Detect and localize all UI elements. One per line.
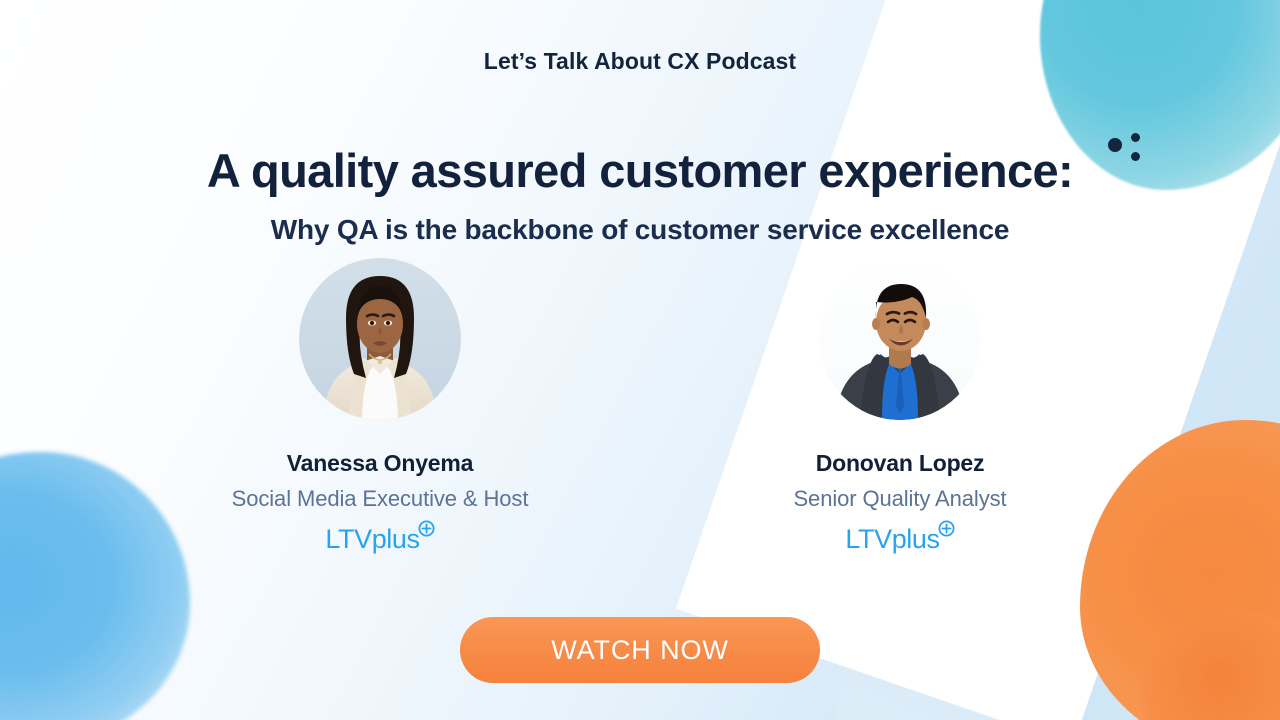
podcast-series-label: Let’s Talk About CX Podcast bbox=[0, 48, 1280, 75]
speaker-role: Social Media Executive & Host bbox=[232, 486, 529, 512]
watch-now-button[interactable]: WATCH NOW bbox=[460, 617, 820, 683]
circled-plus-icon bbox=[418, 520, 435, 537]
avatar bbox=[299, 258, 461, 420]
ltvplus-logo: LTVplus bbox=[845, 526, 954, 553]
ltvplus-logo: LTVplus bbox=[325, 526, 434, 553]
ltvplus-logo-wordmark: LTVplus bbox=[325, 526, 419, 553]
page-subtitle: Why QA is the backbone of customer servi… bbox=[0, 214, 1280, 246]
promo-banner: Let’s Talk About CX Podcast A quality as… bbox=[0, 0, 1280, 720]
circled-plus-icon bbox=[938, 520, 955, 537]
avatar bbox=[819, 258, 981, 420]
page-title: A quality assured customer experience: bbox=[0, 143, 1280, 198]
speaker-card: Donovan Lopez Senior Quality Analyst LTV… bbox=[722, 258, 1078, 553]
speaker-name: Donovan Lopez bbox=[816, 450, 985, 477]
speaker-name: Vanessa Onyema bbox=[287, 450, 473, 477]
speaker-role: Senior Quality Analyst bbox=[793, 486, 1006, 512]
speaker-card: Vanessa Onyema Social Media Executive & … bbox=[202, 258, 558, 553]
ltvplus-logo-wordmark: LTVplus bbox=[845, 526, 939, 553]
speaker-list: Vanessa Onyema Social Media Executive & … bbox=[0, 258, 1280, 553]
